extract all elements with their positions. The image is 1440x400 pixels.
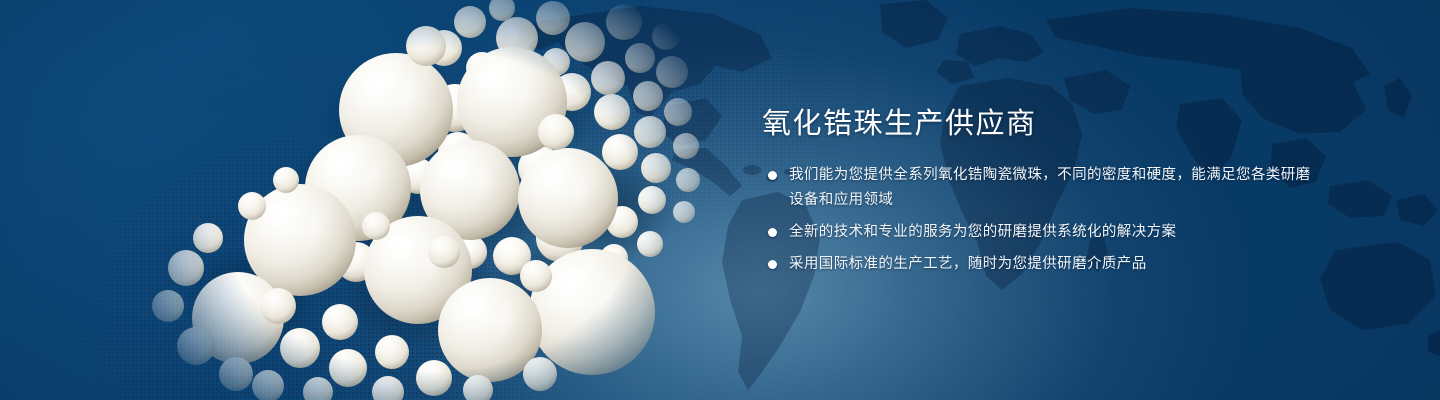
promo-banner: 氧化锆珠生产供应商 我们能为您提供全系列氧化锆陶瓷微珠，不同的密度和硬度，能满足… — [0, 0, 1440, 400]
list-item: 全新的技术和专业的服务为您的研磨提供系统化的解决方案 — [762, 220, 1322, 245]
bullet-dot-icon — [768, 228, 777, 237]
banner-headline: 氧化锆珠生产供应商 — [762, 104, 1322, 144]
list-item-text: 采用国际标准的生产工艺，随时为您提供研磨介质产品 — [789, 252, 1322, 277]
list-item-text: 全新的技术和专业的服务为您的研磨提供系统化的解决方案 — [789, 220, 1322, 245]
bullet-dot-icon — [768, 171, 777, 180]
list-item-text: 我们能为您提供全系列氧化锆陶瓷微珠，不同的密度和硬度，能满足您各类研磨设备和应用… — [789, 163, 1322, 213]
list-item: 采用国际标准的生产工艺，随时为您提供研磨介质产品 — [762, 252, 1322, 277]
banner-feature-list: 我们能为您提供全系列氧化锆陶瓷微珠，不同的密度和硬度，能满足您各类研磨设备和应用… — [762, 163, 1322, 277]
banner-copy-block: 氧化锆珠生产供应商 我们能为您提供全系列氧化锆陶瓷微珠，不同的密度和硬度，能满足… — [762, 104, 1322, 277]
bullet-dot-icon — [768, 260, 777, 269]
list-item: 我们能为您提供全系列氧化锆陶瓷微珠，不同的密度和硬度，能满足您各类研磨设备和应用… — [762, 163, 1322, 213]
